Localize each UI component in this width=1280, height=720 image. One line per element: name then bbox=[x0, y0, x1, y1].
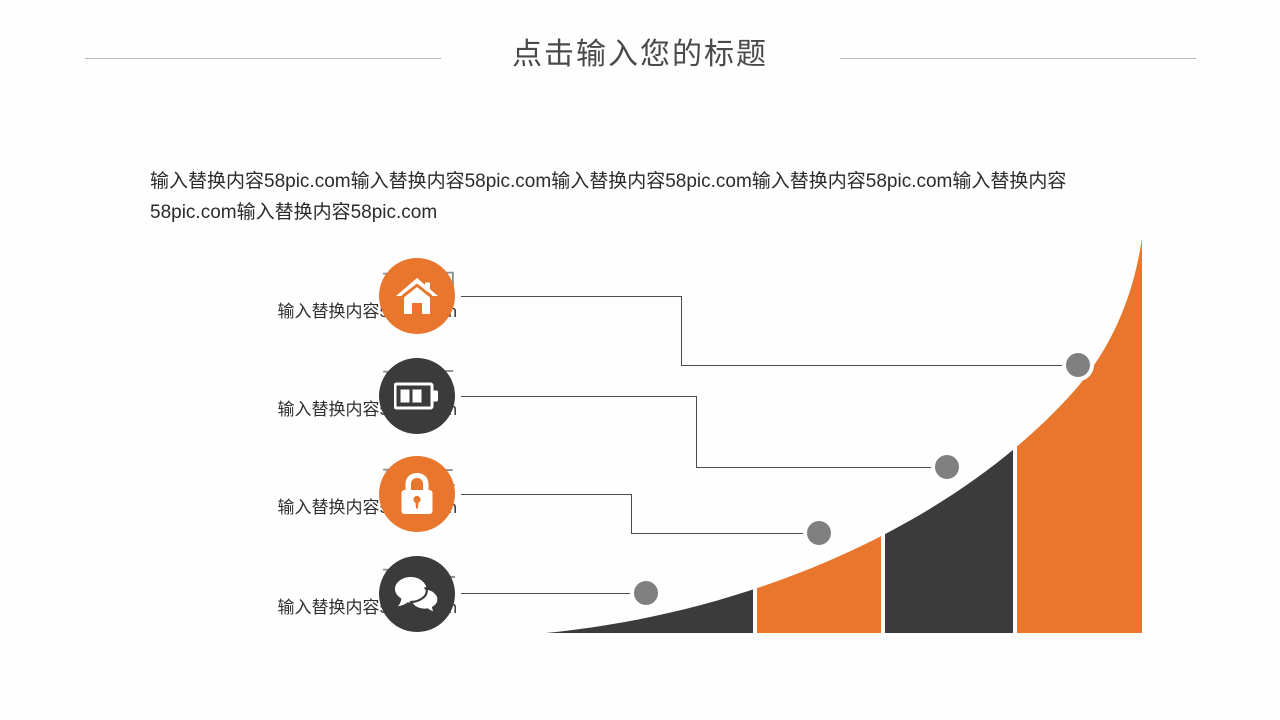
chart-marker-item-four[interactable] bbox=[1062, 349, 1094, 381]
connector-2-segment-b bbox=[631, 494, 632, 534]
connector-3-segment-a bbox=[461, 396, 696, 397]
battery-icon bbox=[394, 381, 440, 411]
chart-marker-item-two[interactable] bbox=[803, 517, 835, 549]
item-three-badge[interactable] bbox=[379, 358, 455, 434]
chart-segments bbox=[540, 230, 1147, 640]
home-icon bbox=[395, 276, 439, 316]
lock-icon bbox=[398, 472, 436, 516]
chart-marker-item-three[interactable] bbox=[931, 451, 963, 483]
connector-3-segment-b bbox=[696, 396, 697, 468]
connector-2-segment-a bbox=[461, 494, 631, 495]
connector-3-segment-c bbox=[696, 467, 951, 468]
connector-4-segment-a bbox=[461, 296, 681, 297]
intro-paragraph: 输入替换内容58pic.com输入替换内容58pic.com输入替换内容58pi… bbox=[150, 166, 1090, 228]
chart-segment-4 bbox=[1017, 230, 1147, 640]
page-title: 点击输入您的标题 bbox=[440, 34, 840, 76]
chart-segment-3 bbox=[885, 230, 1013, 640]
item-two-badge[interactable] bbox=[379, 456, 455, 532]
chart-segment-2 bbox=[757, 230, 881, 640]
connector-1-segment-a bbox=[461, 593, 651, 594]
header-rule-right bbox=[840, 58, 1196, 59]
item-four-badge[interactable] bbox=[379, 258, 455, 334]
connector-4-segment-b bbox=[681, 296, 682, 366]
item-one-badge[interactable] bbox=[379, 556, 455, 632]
header-rule-left bbox=[85, 58, 441, 59]
slide-canvas: 点击输入您的标题 输入替换内容58pic.com输入替换内容58pic.com输… bbox=[0, 0, 1280, 720]
connector-2-segment-c bbox=[631, 533, 823, 534]
chart-marker-item-one[interactable] bbox=[630, 577, 662, 609]
connector-4-segment-c bbox=[681, 365, 1081, 366]
chat-icon bbox=[393, 574, 441, 614]
